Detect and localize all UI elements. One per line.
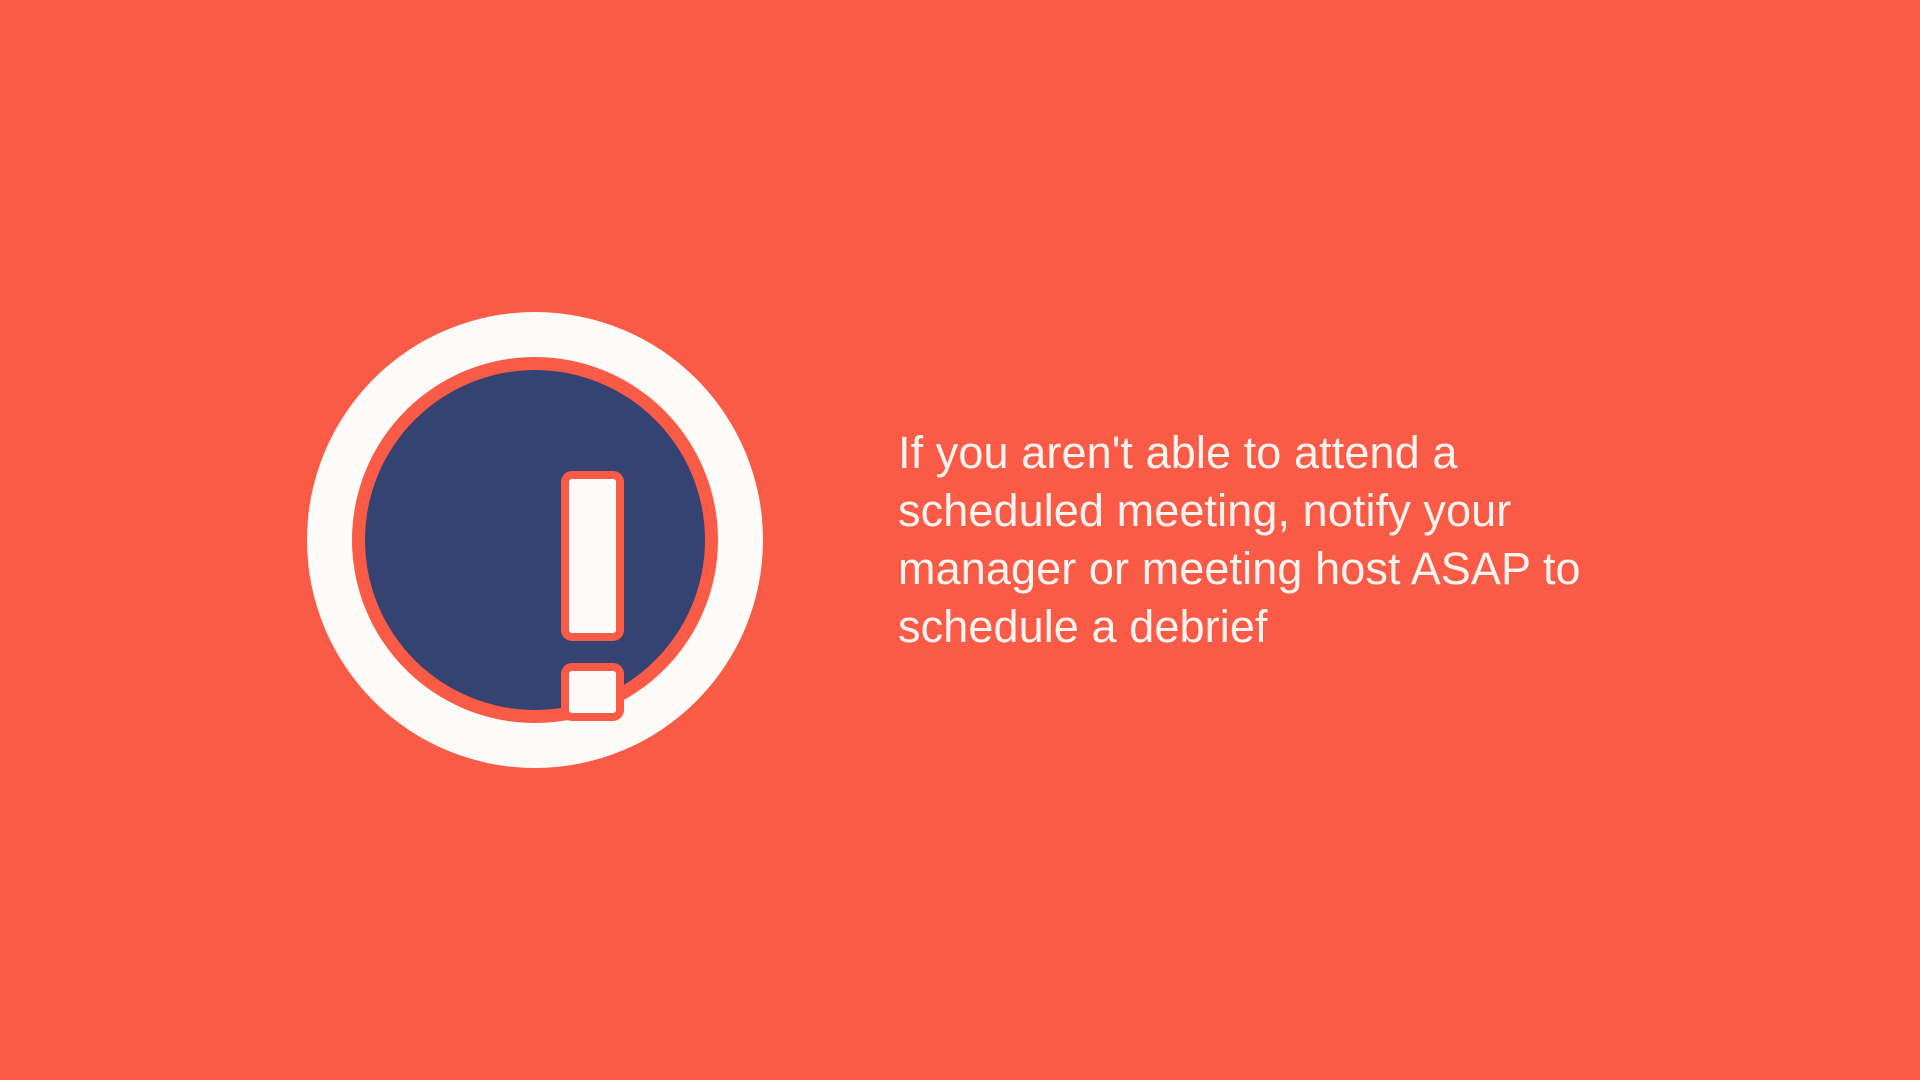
exclamation-dot-icon [561,663,624,721]
slide-canvas: If you aren't able to attend a scheduled… [0,0,1920,1080]
message-text: If you aren't able to attend a scheduled… [898,424,1618,656]
alert-navy-disc [365,370,705,710]
exclamation-bar-icon [561,471,624,641]
exclamation-alert-icon [307,312,763,768]
message-block: If you aren't able to attend a scheduled… [898,424,1618,656]
